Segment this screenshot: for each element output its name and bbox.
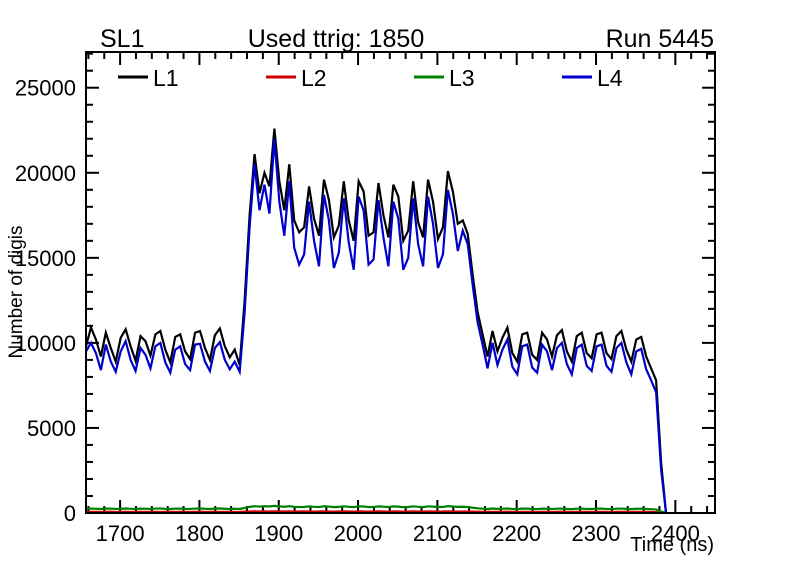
x-tick-label: 2100 [413, 521, 462, 546]
chart-canvas: SL1 Used ttrig: 1850 Run 5445 Number of … [0, 0, 796, 572]
x-tick-label: 2200 [492, 521, 541, 546]
y-tick-label: 10000 [15, 331, 76, 356]
legend-label-l3[interactable]: L3 [449, 65, 475, 91]
y-tick-label: 5000 [27, 416, 76, 441]
y-tick-label: 0 [64, 501, 76, 526]
x-tick-label: 2400 [651, 521, 700, 546]
legend-label-l2[interactable]: L2 [301, 65, 327, 91]
pad-label-run: Run 5445 [606, 25, 714, 53]
x-tick-label: 2000 [334, 521, 383, 546]
y-tick-label: 20000 [15, 161, 76, 186]
legend-label-l1[interactable]: L1 [153, 65, 179, 91]
x-tick-label: 1900 [254, 521, 303, 546]
x-tick-label: 1700 [96, 521, 145, 546]
y-tick-label: 25000 [15, 76, 76, 101]
canvas-background [0, 0, 796, 572]
legend-label-l4[interactable]: L4 [597, 65, 623, 91]
root-plot-svg: SL1 Used ttrig: 1850 Run 5445 Number of … [0, 0, 796, 572]
x-tick-label: 2300 [572, 521, 621, 546]
x-tick-label: 1800 [175, 521, 224, 546]
pad-title-ttrig: Used ttrig: 1850 [248, 25, 425, 53]
pad-label-left: SL1 [100, 25, 144, 53]
y-tick-label: 15000 [15, 246, 76, 271]
